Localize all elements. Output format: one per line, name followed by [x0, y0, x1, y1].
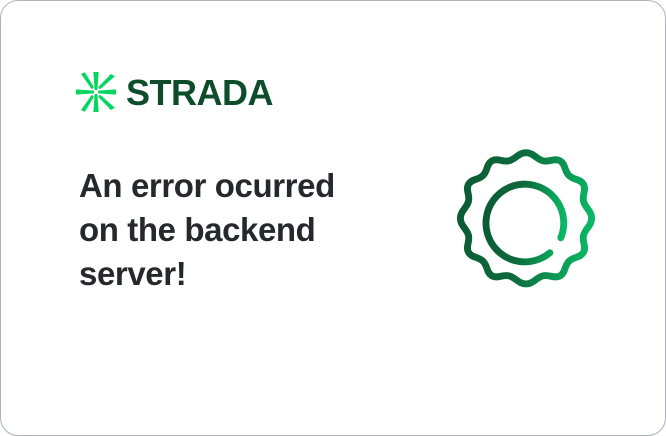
gear-icon [445, 143, 607, 305]
brand-lockup: STRADA [75, 69, 273, 115]
brand-wordmark: STRADA [126, 75, 273, 111]
error-message: An error ocurred on the backend server! [79, 164, 379, 296]
error-card: STRADA An error ocurred on the backend s… [0, 0, 666, 436]
strada-asterisk-icon [75, 71, 117, 113]
